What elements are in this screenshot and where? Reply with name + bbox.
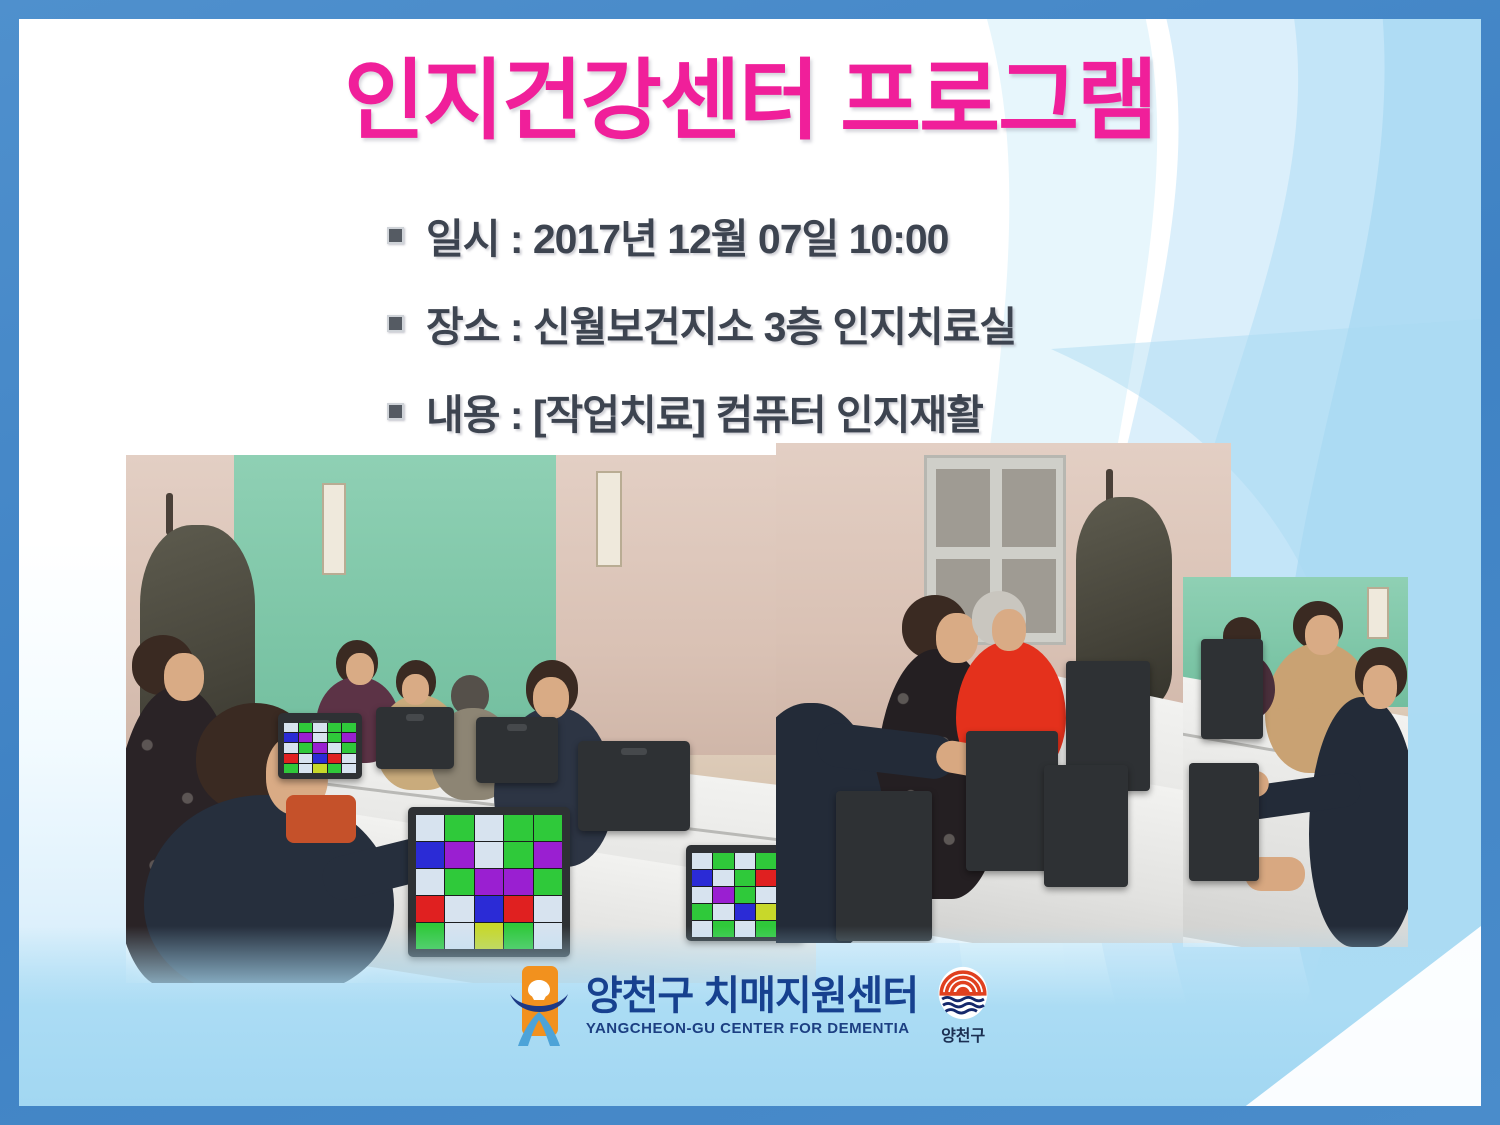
photo-left — [126, 455, 816, 983]
list-item: 장소 : 신월보건지소 3층 인지치료실 — [387, 293, 1016, 353]
emblem-label: 양천구 — [941, 1022, 985, 1046]
schedule-text: 일시 : 2017년 12월 07일 10:00 — [426, 205, 949, 265]
location-text: 장소 : 신월보건지소 3층 인지치료실 — [426, 293, 1016, 353]
square-bullet-icon — [387, 403, 404, 420]
organization-name-kr: 양천구 치매지원센터 — [586, 975, 918, 1017]
photo-collage — [111, 437, 1411, 992]
content-text: 내용 : [작업치료] 컴퓨터 인지재활 — [426, 381, 983, 441]
photo-middle — [776, 443, 1231, 943]
poster-canvas: 인지건강센터 프로그램 일시 : 2017년 12월 07일 10:00 장소 … — [19, 19, 1481, 1106]
list-item: 일시 : 2017년 12월 07일 10:00 — [387, 205, 1016, 265]
square-bullet-icon — [387, 227, 404, 244]
yangcheon-gu-emblem-icon: 양천구 — [934, 966, 992, 1046]
page-title: 인지건강센터 프로그램 — [19, 53, 1481, 148]
organization-name-en: YANGCHEON-GU CENTER FOR DEMENTIA — [586, 1020, 910, 1037]
list-item: 내용 : [작업치료] 컴퓨터 인지재활 — [387, 381, 1016, 441]
organization-name: 양천구 치매지원센터 YANGCHEON-GU CENTER FOR DEMEN… — [586, 975, 918, 1037]
footer: 양천구 치매지원센터 YANGCHEON-GU CENTER FOR DEMEN… — [19, 964, 1481, 1048]
square-bullet-icon — [387, 315, 404, 332]
photo-right — [1183, 577, 1408, 947]
dove-person-logo-icon — [508, 964, 570, 1048]
poster-root: 인지건강센터 프로그램 일시 : 2017년 12월 07일 10:00 장소 … — [0, 0, 1500, 1125]
info-list: 일시 : 2017년 12월 07일 10:00 장소 : 신월보건지소 3층 … — [387, 205, 1016, 441]
